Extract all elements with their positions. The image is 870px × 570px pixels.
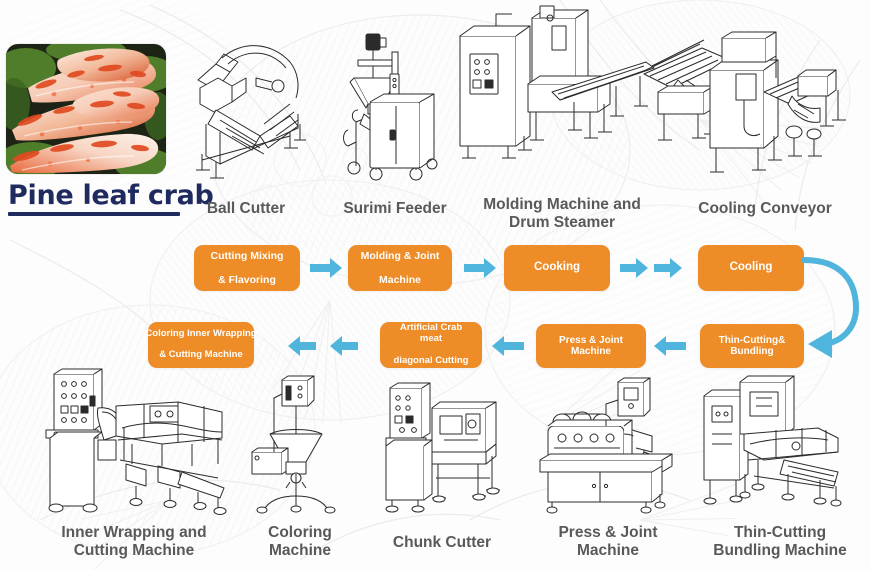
flow-box-cooking[interactable]: Cooking xyxy=(504,245,610,291)
flow-box-cutting-mixing-flavoring[interactable]: Cutting Mixing & Flavoring xyxy=(194,245,300,291)
caption-cooling-conveyor: Cooling Conveyor xyxy=(680,200,850,218)
flow-label: Cooling xyxy=(726,261,777,274)
arrow-left-1 xyxy=(654,336,686,356)
machine-chunk-cutter xyxy=(378,378,510,512)
flow-label-line2: & Flavoring xyxy=(207,274,288,286)
arrow-right-3a xyxy=(620,258,648,278)
machine-thin-cutting-bundling xyxy=(688,376,848,514)
infographic-canvas: Pine leaf crab Ball Cutter xyxy=(0,0,870,570)
caption-press-joint-machine: Press & Joint Machine xyxy=(528,524,688,561)
caption-molding-drum-steamer: Molding Machine and Drum Steamer xyxy=(462,196,662,233)
arrow-curved-connector xyxy=(798,252,864,362)
caption-text: Cooling Conveyor xyxy=(698,200,831,217)
caption-text: Chunk Cutter xyxy=(393,534,491,551)
arrow-right-3b xyxy=(654,258,682,278)
flow-box-coloring-inner-wrapping-cutting[interactable]: Coloring Inner Wrapping & Cutting Machin… xyxy=(148,322,254,368)
arrow-left-2 xyxy=(492,336,524,356)
flow-label: Thin-Cutting& Bundling xyxy=(700,335,804,358)
caption-text-line2: Machine xyxy=(577,542,639,559)
arrow-right-2 xyxy=(464,258,496,278)
caption-coloring-machine: Coloring Machine xyxy=(240,524,360,561)
caption-ball-cutter: Ball Cutter xyxy=(176,200,316,218)
flow-label-line2: & Cutting Machine xyxy=(141,350,260,361)
machine-surimi-feeder xyxy=(340,26,450,191)
machine-press-joint xyxy=(532,380,680,512)
title-underline xyxy=(8,212,180,216)
caption-text-line1: Molding Machine and xyxy=(483,196,641,213)
flow-label-line2: Machine xyxy=(357,274,444,286)
caption-inner-wrapping-cutting: Inner Wrapping and Cutting Machine xyxy=(46,524,222,561)
machine-inner-wrapping-cutting xyxy=(32,368,228,516)
flow-label-line1: Coloring Inner Wrapping xyxy=(141,329,260,340)
flow-box-press-joint-machine[interactable]: Press & Joint Machine xyxy=(536,324,646,368)
caption-surimi-feeder: Surimi Feeder xyxy=(325,200,465,218)
crab-photo xyxy=(6,44,166,174)
caption-text-line2: Bundling Machine xyxy=(713,542,846,559)
flow-label-line1: Cutting Mixing xyxy=(207,250,288,262)
arrow-left-3b xyxy=(288,336,316,356)
flow-label: Cooking xyxy=(530,261,584,274)
caption-text-line1: Thin-Cutting xyxy=(734,524,826,541)
caption-text-line1: Inner Wrapping and xyxy=(61,524,206,541)
flow-label-line1: Artificial Crab meat xyxy=(384,323,478,345)
arrow-left-3a xyxy=(330,336,358,356)
flow-label-line1: Molding & Joint xyxy=(357,250,444,262)
arrow-right-1 xyxy=(310,258,342,278)
flow-label-line2: diagonal Cutting xyxy=(384,356,478,367)
flow-box-artificial-crab-diagonal-cutting[interactable]: Artificial Crab meat diagonal Cutting xyxy=(380,322,482,368)
flow-box-thin-cutting-bundling[interactable]: Thin-Cutting& Bundling xyxy=(700,324,804,368)
caption-text: Surimi Feeder xyxy=(343,200,446,217)
caption-text: Ball Cutter xyxy=(207,200,285,217)
caption-text-line2: Cutting Machine xyxy=(74,542,195,559)
caption-thin-cutting-bundling: Thin-Cutting Bundling Machine xyxy=(690,524,870,561)
caption-text-line1: Press & Joint xyxy=(558,524,657,541)
machine-coloring xyxy=(248,378,354,512)
machine-ball-cutter xyxy=(186,28,306,188)
machine-cooling-conveyor xyxy=(648,30,864,190)
flow-box-molding-joint-machine[interactable]: Molding & Joint Machine xyxy=(348,245,452,291)
machine-molding-drum-steamer xyxy=(440,6,660,186)
caption-text-line1: Coloring xyxy=(268,524,332,541)
flow-label: Press & Joint Machine xyxy=(536,335,646,358)
flow-box-cooling[interactable]: Cooling xyxy=(698,245,804,291)
caption-text-line2: Drum Steamer xyxy=(509,214,615,231)
caption-text-line2: Machine xyxy=(269,542,331,559)
caption-chunk-cutter: Chunk Cutter xyxy=(372,534,512,552)
